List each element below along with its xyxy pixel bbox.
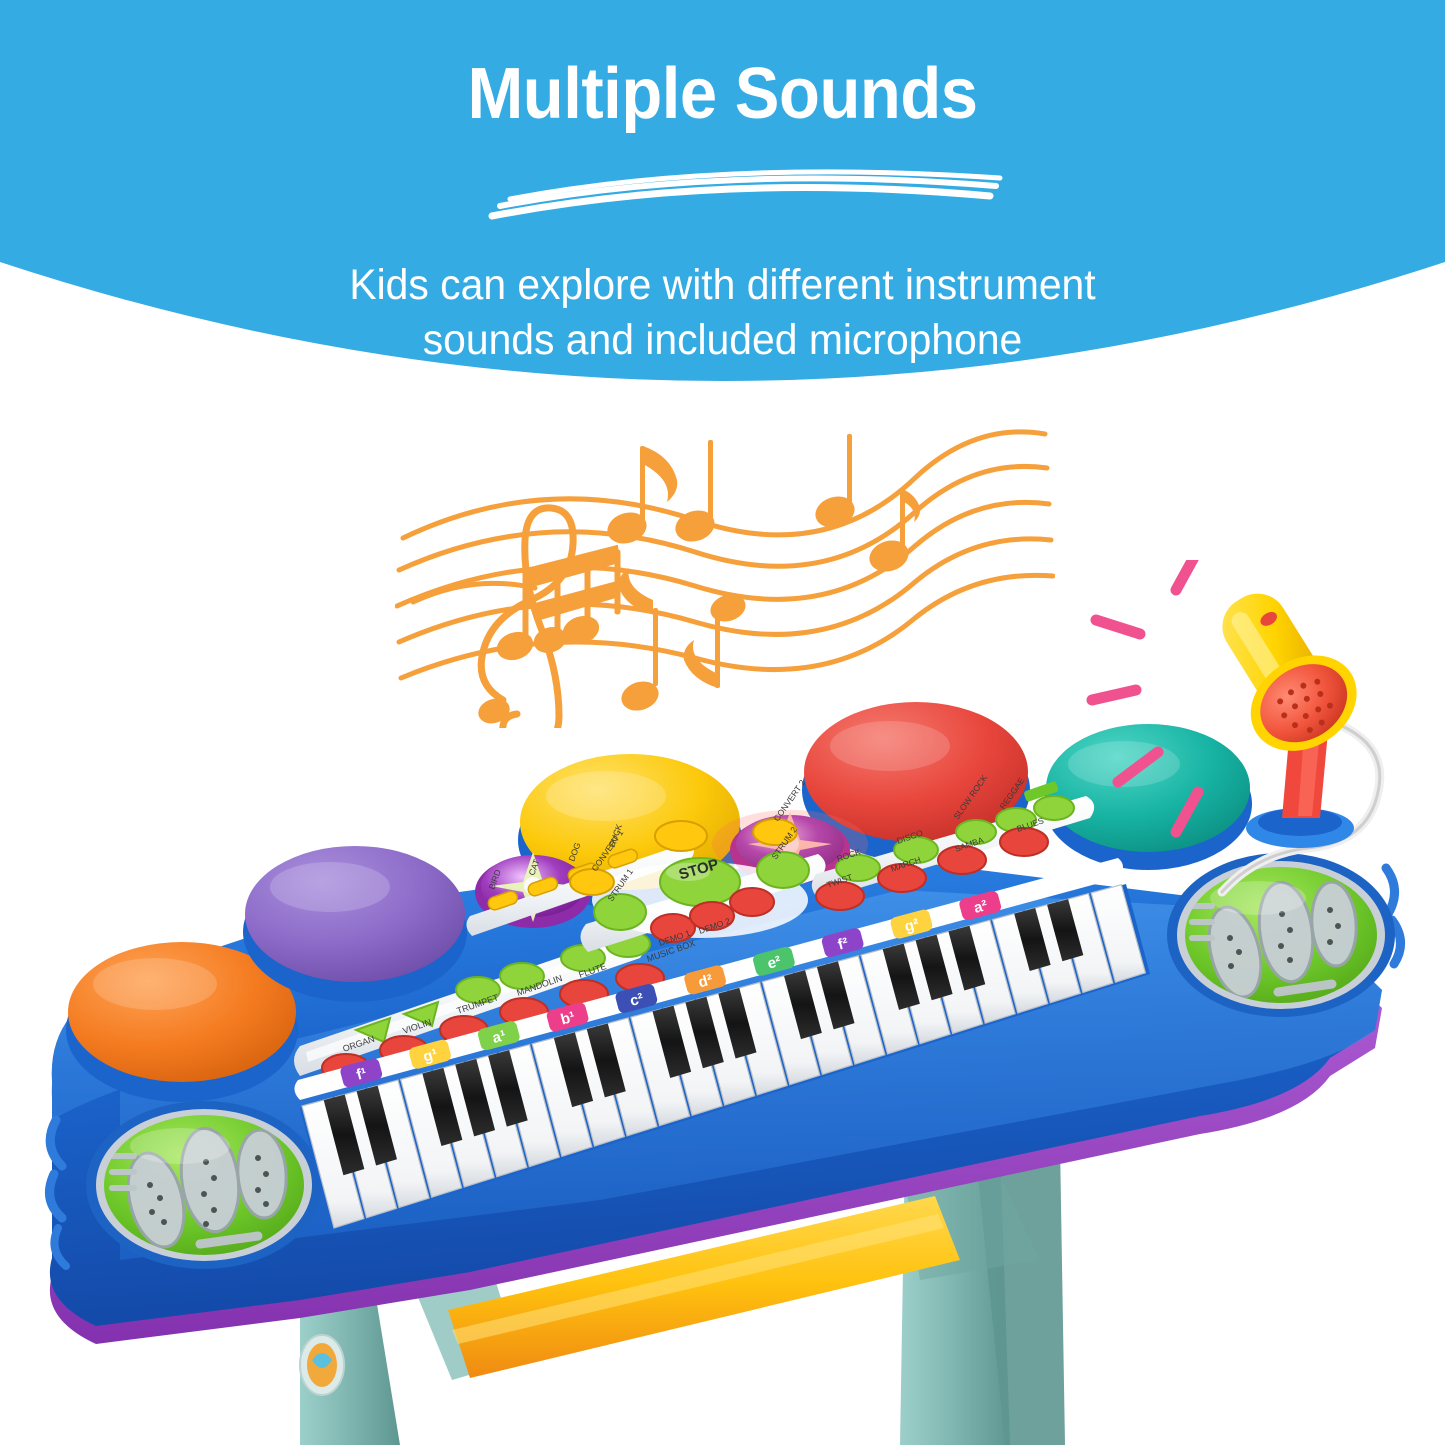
purple-drum-pad[interactable] [243,846,467,1002]
convert1-button[interactable] [570,869,614,895]
teal-drum-pad[interactable] [1044,724,1252,870]
strum2-button[interactable] [757,852,809,888]
blues-button[interactable] [1000,828,1048,856]
banner-shape [0,0,1445,480]
twist-button[interactable] [816,882,864,910]
strum1-button[interactable] [594,894,646,930]
right-speaker-grille [1167,853,1395,1017]
header-banner: Multiple Sounds Kids can explore with di… [0,0,1445,480]
product-feature-image: ORGAN VIOLIN TRUMPET MANDOLIN FLUTE PIAN… [0,0,1445,1445]
left-speaker-grille [86,1101,322,1269]
extra-button[interactable] [730,888,774,916]
music-staff-illustration [395,428,1055,728]
